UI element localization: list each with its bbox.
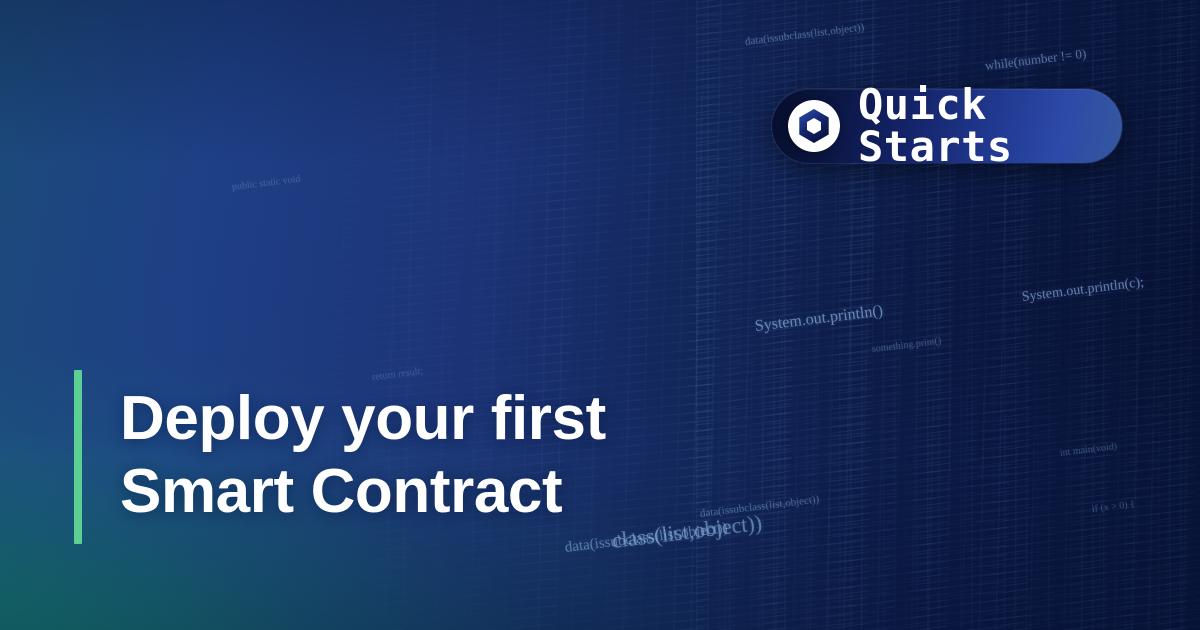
page-title-line-1: Deploy your first <box>120 383 780 456</box>
code-snippet: System.out.println(c); <box>1021 275 1145 306</box>
code-snippet: while(number != 0) <box>984 46 1087 74</box>
quickstarts-badge-label: QuickStarts <box>858 84 1122 168</box>
quickstarts-badge[interactable]: QuickStarts <box>772 89 1122 163</box>
code-snippet: System.out.println() <box>754 302 884 336</box>
code-snippet: if (x > 0) { <box>1091 499 1135 515</box>
code-snippet: public static void <box>231 174 301 193</box>
code-snippet: something.print() <box>871 336 942 355</box>
code-snippet: int main(void) <box>1059 441 1117 459</box>
page-title: Deploy your first Smart Contract <box>120 383 780 528</box>
chainlink-hexagon-icon <box>788 100 840 152</box>
code-snippet: return result; <box>371 366 423 383</box>
code-snippet: data(issubclass(list,object)) <box>744 21 865 48</box>
page-title-line-2: Smart Contract <box>120 456 780 529</box>
quickstarts-banner: while(number != 0)data(issubclass(list,o… <box>0 0 1200 630</box>
badge-label-part2: Starts <box>858 122 1013 171</box>
headline-accent-bar <box>74 370 82 544</box>
